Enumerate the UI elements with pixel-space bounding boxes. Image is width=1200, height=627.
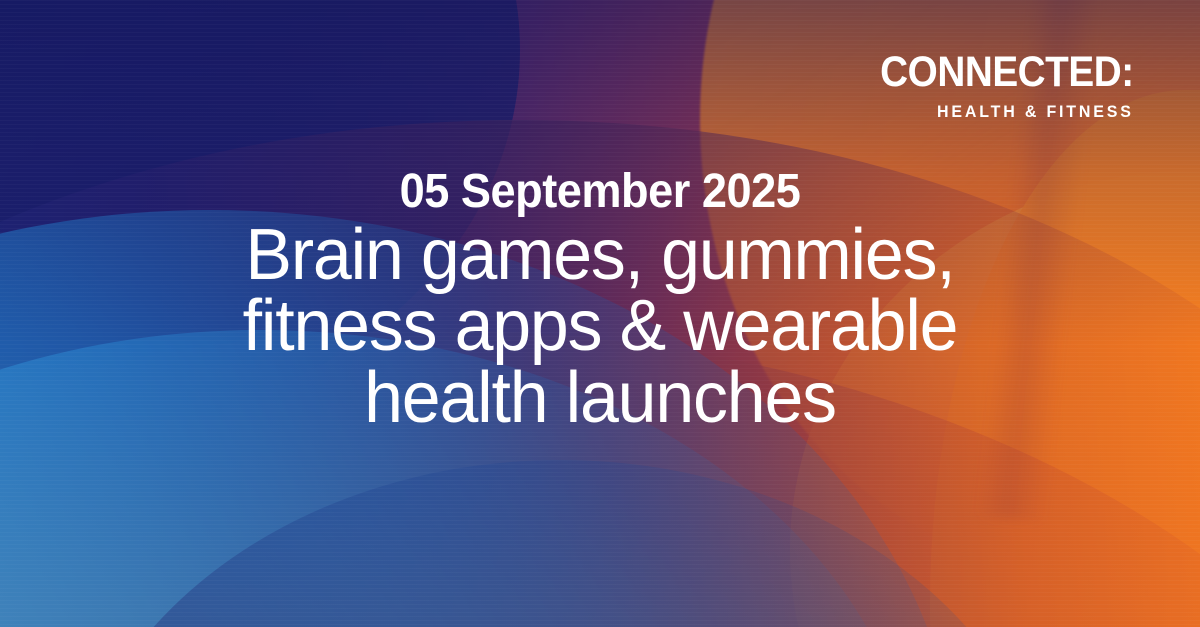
headline-line-1: Brain games, gummies, <box>86 220 1114 291</box>
promo-banner: CONNECTED: HEALTH & FITNESS 05 September… <box>0 0 1200 627</box>
headline-line-3: health launches <box>86 363 1114 434</box>
headline-line-2: fitness apps & wearable <box>86 291 1114 362</box>
brand-logo: CONNECTED: HEALTH & FITNESS <box>852 52 1134 122</box>
page-title: Brain games, gummies, fitness apps & wea… <box>86 220 1114 434</box>
publish-date: 05 September 2025 <box>102 168 1098 216</box>
logo-tagline: HEALTH & FITNESS <box>869 102 1134 122</box>
logo-wordmark: CONNECTED: <box>880 52 1134 93</box>
banner-content: 05 September 2025 Brain games, gummies, … <box>0 168 1200 434</box>
